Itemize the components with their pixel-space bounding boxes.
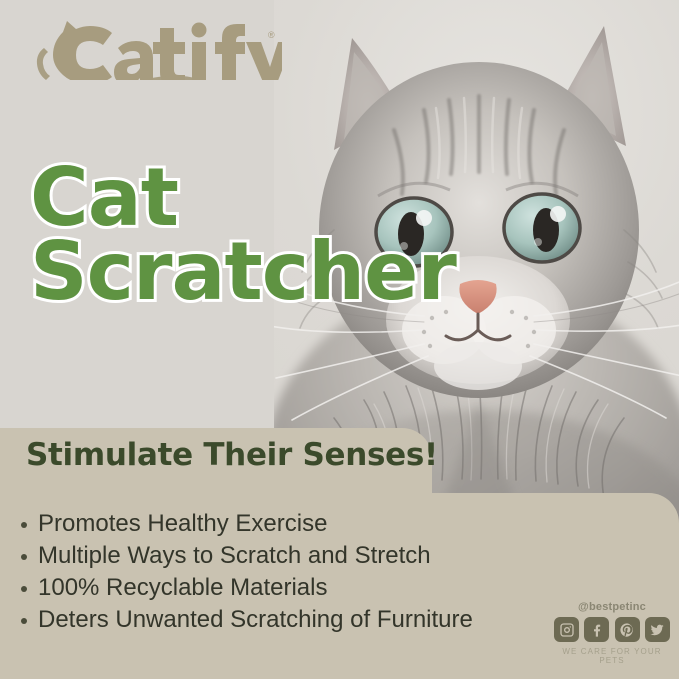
list-item: Promotes Healthy Exercise [18,508,618,540]
subheading: Stimulate Their Senses! [26,437,438,473]
list-item: Multiple Ways to Scratch and Stretch [18,540,618,572]
social-block: @bestpetinc WE CARE FOR YOUR PETS [554,601,670,665]
facebook-icon[interactable] [584,617,609,642]
social-handle: @bestpetinc [554,601,670,613]
list-item: 100% Recyclable Materials [18,572,618,604]
headline-line-1: Cat [30,163,500,233]
brand-logo: ® [22,18,282,80]
headline: Cat Scratcher [30,163,500,308]
instagram-icon[interactable] [554,617,579,642]
feature-list: Promotes Healthy Exercise Multiple Ways … [18,508,618,636]
product-marketing-image: ® Cat Scratcher Stimulate Their Senses! … [0,0,679,679]
social-tagline: WE CARE FOR YOUR PETS [554,647,670,665]
headline-line-2: Scratcher [30,237,500,307]
pinterest-icon[interactable] [615,617,640,642]
twitter-icon[interactable] [645,617,670,642]
svg-text:®: ® [268,30,275,40]
list-item: Deters Unwanted Scratching of Furniture [18,604,618,636]
social-icon-row [554,617,670,642]
